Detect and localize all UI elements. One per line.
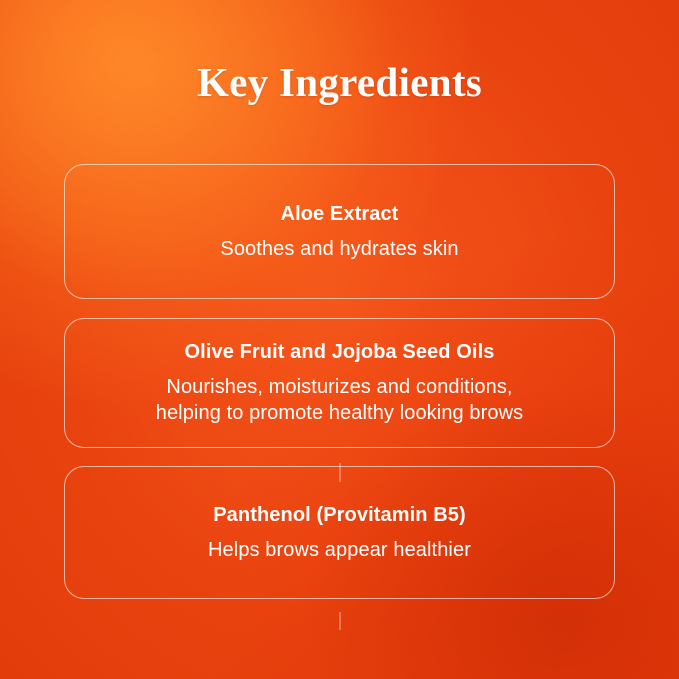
ingredient-card-panthenol: Panthenol (Provitamin B5) Helps brows ap… [64, 466, 615, 599]
ingredient-card-list: Aloe Extract Soothes and hydrates skin O… [64, 164, 615, 599]
page-title: Key Ingredients [0, 58, 679, 106]
ingredient-description: Helps brows appear healthier [208, 537, 471, 563]
ingredient-card-aloe-extract: Aloe Extract Soothes and hydrates skin [64, 164, 615, 299]
card-connector-line-2 [339, 612, 340, 630]
key-ingredients-poster: Key Ingredients Aloe Extract Soothes and… [0, 0, 679, 679]
ingredient-heading: Aloe Extract [281, 202, 399, 226]
card-connector-line-1 [339, 463, 340, 482]
ingredient-card-olive-jojoba-oils: Olive Fruit and Jojoba Seed Oils Nourish… [64, 318, 615, 448]
ingredient-heading: Panthenol (Provitamin B5) [213, 503, 466, 527]
ingredient-description: Nourishes, moisturizes and conditions,he… [156, 374, 524, 426]
ingredient-heading: Olive Fruit and Jojoba Seed Oils [185, 340, 495, 364]
ingredient-description: Soothes and hydrates skin [220, 236, 458, 262]
